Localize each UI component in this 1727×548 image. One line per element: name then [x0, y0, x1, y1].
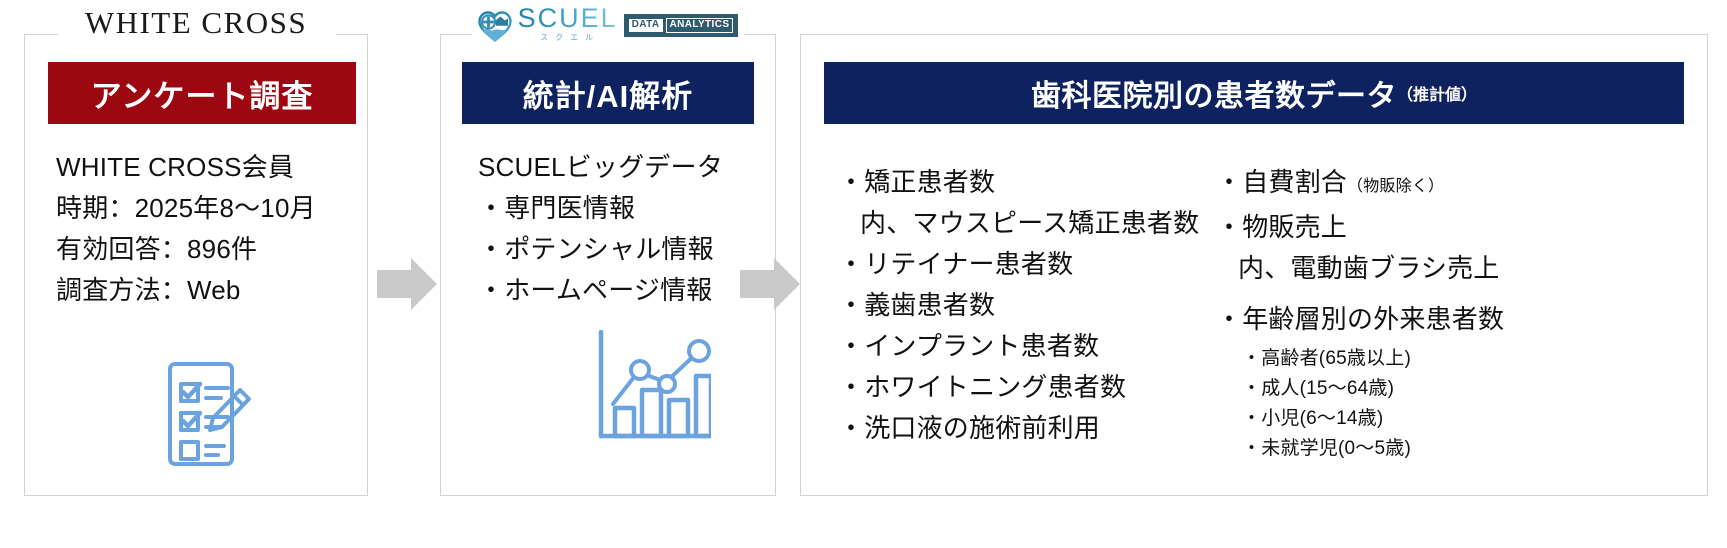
output-left-line-5: ・インプラント患者数	[838, 326, 1198, 367]
age-group-senior: ・高齢者(65歳以上)	[1242, 344, 1646, 374]
output-left-line-6: ・ホワイトニング患者数	[838, 367, 1198, 408]
output-right-line-1: ・自費割合（物販除く）	[1216, 162, 1646, 207]
panel-analysis-header: 統計/AI解析	[462, 62, 754, 124]
output-left-line-4: ・義歯患者数	[838, 285, 1198, 326]
panel-analysis-body: SCUELビッグデータ ・専門医情報 ・ポテンシャル情報 ・ホームページ情報	[478, 147, 778, 311]
scuel-wordmark: SCUEL スクエル	[518, 5, 618, 42]
scuel-heart-cross-icon	[478, 11, 512, 42]
scuel-wordmark-kana: スクエル	[535, 34, 600, 42]
brand-white-cross: WHITE CROSS	[24, 4, 368, 42]
age-group-preschool: ・未就学児(0〜5歳)	[1242, 434, 1646, 464]
scuel-wordmark-text: SCUEL	[518, 5, 618, 32]
output-age-sublist: ・高齢者(65歳以上) ・成人(15〜64歳) ・小児(6〜14歳) ・未就学児…	[1216, 344, 1646, 464]
panel-survey-header: アンケート調査	[48, 62, 356, 124]
panel-output-header-suffix: （推計値）	[1397, 81, 1477, 105]
output-left-line-7: ・洗口液の施術前利用	[838, 408, 1198, 449]
output-left-line-3: ・リテイナー患者数	[838, 244, 1198, 285]
badge-analytics-label: ANALYTICS	[666, 18, 734, 33]
panel-output-header-label: 歯科医院別の患者数データ	[1031, 71, 1397, 115]
age-group-child: ・小児(6〜14歳)	[1242, 404, 1646, 434]
survey-clipboard-icon	[156, 358, 252, 470]
output-column-left: ・矯正患者数 内、マウスピース矯正患者数 ・リテイナー患者数 ・義歯患者数 ・イ…	[838, 162, 1198, 449]
survey-line-2: 時期：2025年8〜10月	[56, 188, 356, 229]
age-group-adult: ・成人(15〜64歳)	[1242, 374, 1646, 404]
scuel-logo-group: SCUEL スクエル DATA ANALYTICS	[478, 5, 739, 42]
survey-line-4: 調査方法：Web	[56, 270, 356, 311]
badge-data-label: DATA	[629, 19, 663, 32]
scuel-data-analytics-badge: DATA ANALYTICS	[624, 14, 739, 37]
white-cross-wordmark: WHITE CROSS	[85, 5, 307, 41]
output-right-line-1-paren: （物販除く）	[1347, 178, 1444, 195]
output-right-line-2: ・物販売上	[1216, 207, 1646, 248]
output-right-line-1-text: ・自費割合	[1216, 167, 1347, 197]
survey-line-3: 有効回答：896件	[56, 229, 356, 270]
infographic-canvas: WHITE CROSS アンケート調査 WHITE CROSS会員 時期：202…	[0, 0, 1727, 548]
analysis-line-4: ・ホームページ情報	[478, 270, 778, 311]
output-column-right: ・自費割合（物販除く） ・物販売上 内、電動歯ブラシ売上 ・年齢層別の外来患者数…	[1216, 162, 1646, 464]
arrow-analysis-to-output	[740, 258, 800, 310]
output-left-line-1: ・矯正患者数	[838, 162, 1198, 203]
brand-scuel: SCUEL スクエル DATA ANALYTICS	[440, 4, 776, 42]
analysis-line-2: ・専門医情報	[478, 188, 778, 229]
panel-output-header: 歯科医院別の患者数データ（推計値）	[824, 62, 1684, 124]
output-right-line-4: ・年齢層別の外来患者数	[1216, 299, 1646, 340]
analysis-line-3: ・ポテンシャル情報	[478, 229, 778, 270]
output-right-line-3: 内、電動歯ブラシ売上	[1216, 248, 1646, 289]
panel-analysis-header-label: 統計/AI解析	[523, 71, 694, 116]
panel-survey-header-label: アンケート調査	[91, 71, 314, 116]
panel-survey-body: WHITE CROSS会員 時期：2025年8〜10月 有効回答：896件 調査…	[56, 147, 356, 311]
arrow-survey-to-analysis	[377, 258, 437, 310]
output-left-line-2: 内、マウスピース矯正患者数	[838, 203, 1198, 244]
analysis-line-1: SCUELビッグデータ	[478, 147, 778, 188]
survey-line-1: WHITE CROSS会員	[56, 147, 356, 188]
bar-line-chart-icon	[595, 330, 711, 440]
